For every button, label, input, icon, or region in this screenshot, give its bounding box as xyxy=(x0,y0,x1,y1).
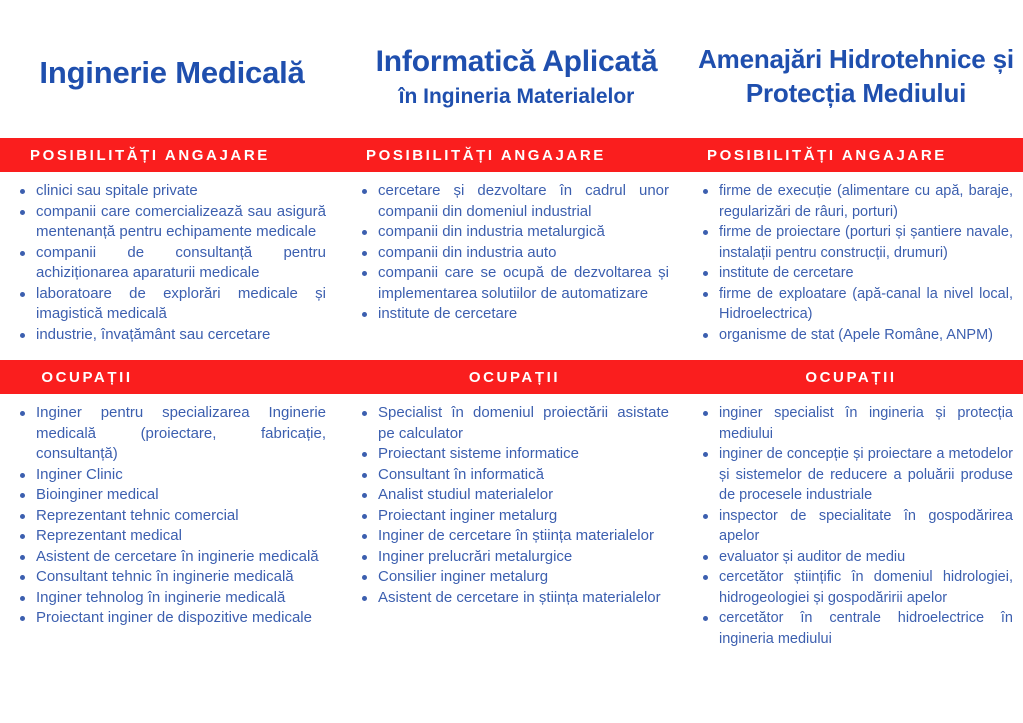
list-item: organisme de stat (Apele Române, ANPM) xyxy=(697,325,1013,346)
list-item: Inginer prelucrări metalurgice xyxy=(356,547,669,568)
program-title-sub: în Ingineria Materialelor xyxy=(399,83,635,110)
list-item: Inginer de cercetare în știința material… xyxy=(356,526,669,547)
list-item: inspector de specialitate în gospodărire… xyxy=(697,506,1013,547)
list-item: cercetare și dezvoltare în cadrul unor c… xyxy=(356,181,669,222)
list-item: Inginer tehnolog în inginerie medicală xyxy=(14,588,326,609)
list-item: Inginer Clinic xyxy=(14,465,326,486)
list-item: inginer de concepție și proiectare a met… xyxy=(697,444,1013,506)
occupations-columns: Inginer pentru specializarea Inginerie m… xyxy=(0,394,1023,649)
list-item: cercetător în centrale hidroelectrice în… xyxy=(697,608,1013,649)
list-item: institute de cercetare xyxy=(697,263,1013,284)
list-item: inginer specialist în ingineria și prote… xyxy=(697,403,1013,444)
list-item: companii din industria auto xyxy=(356,243,669,264)
list-item: firme de exploatare (apă-canal la nivel … xyxy=(697,284,1013,325)
band-label-employment-col2: POSIBILITĂȚI ANGAJARE xyxy=(344,147,689,164)
occupations-list-col3: inginer specialist în ingineria și prote… xyxy=(689,394,1023,649)
list-item: companii de consultanță pentru achizițio… xyxy=(14,243,326,284)
list-item: Bioinginer medical xyxy=(14,485,326,506)
list-item: Asistent de cercetare in știința materia… xyxy=(356,588,669,609)
poster-root: Inginerie Medicală Informatică Aplicată … xyxy=(0,0,1023,723)
list-item: cercetător științific în domeniul hidrol… xyxy=(697,567,1013,608)
employment-columns: clinici sau spitale private companii car… xyxy=(0,172,1023,360)
program-title-informatica-aplicata: Informatică Aplicată în Ingineria Materi… xyxy=(344,0,689,138)
program-title-main: Amenajări Hidrotehnice și Protecția Medi… xyxy=(695,43,1017,110)
list-item: Consultant tehnic în inginerie medicală xyxy=(14,567,326,588)
program-title-main: Inginerie Medicală xyxy=(39,56,304,91)
bullet-list: firme de execuție (alimentare cu apă, ba… xyxy=(697,181,1013,345)
program-title-inginerie-medicala: Inginerie Medicală xyxy=(0,0,344,138)
occupations-list-col1: Inginer pentru specializarea Inginerie m… xyxy=(0,394,344,649)
section-band-employment: POSIBILITĂȚI ANGAJARE POSIBILITĂȚI ANGAJ… xyxy=(0,138,1023,172)
list-item: firme de execuție (alimentare cu apă, ba… xyxy=(697,181,1013,222)
employment-list-col1: clinici sau spitale private companii car… xyxy=(0,172,344,360)
band-label-occupations-col2: OCUPAȚII xyxy=(344,369,689,386)
list-item: firme de proiectare (porturi și șantiere… xyxy=(697,222,1013,263)
list-item: Consilier inginer metalurg xyxy=(356,567,669,588)
list-item: Proiectant inginer de dispozitive medica… xyxy=(14,608,326,629)
band-label-employment-col3: POSIBILITĂȚI ANGAJARE xyxy=(689,147,1023,164)
band-label-occupations-col1: OCUPAȚII xyxy=(0,369,344,386)
bullet-list: inginer specialist în ingineria și prote… xyxy=(697,403,1013,649)
list-item: Asistent de cercetare în inginerie medic… xyxy=(14,547,326,568)
list-item: evaluator și auditor de mediu xyxy=(697,547,1013,568)
bullet-list: Specialist în domeniul proiectării asist… xyxy=(356,403,669,608)
list-item: companii care se ocupă de dezvoltarea și… xyxy=(356,263,669,304)
list-item: companii care comercializează sau asigur… xyxy=(14,202,326,243)
employment-list-col2: cercetare și dezvoltare în cadrul unor c… xyxy=(344,172,689,360)
band-label-employment-col1: POSIBILITĂȚI ANGAJARE xyxy=(0,147,344,164)
program-titles-row: Inginerie Medicală Informatică Aplicată … xyxy=(0,0,1023,138)
employment-list-col3: firme de execuție (alimentare cu apă, ba… xyxy=(689,172,1023,360)
bullet-list: cercetare și dezvoltare în cadrul unor c… xyxy=(356,181,669,325)
band-label-occupations-col3: OCUPAȚII xyxy=(689,369,1023,386)
list-item: Inginer pentru specializarea Inginerie m… xyxy=(14,403,326,465)
list-item: industrie, învațământ sau cercetare xyxy=(14,325,326,346)
occupations-list-col2: Specialist în domeniul proiectării asist… xyxy=(344,394,689,649)
list-item: Reprezentant tehnic comercial xyxy=(14,506,326,527)
list-item: Analist studiul materialelor xyxy=(356,485,669,506)
bullet-list: Inginer pentru specializarea Inginerie m… xyxy=(14,403,326,629)
list-item: Specialist în domeniul proiectării asist… xyxy=(356,403,669,444)
list-item: Reprezentant medical xyxy=(14,526,326,547)
program-title-amenajari-hidrotehnice: Amenajări Hidrotehnice și Protecția Medi… xyxy=(689,0,1023,138)
section-band-occupations: OCUPAȚII OCUPAȚII OCUPAȚII xyxy=(0,360,1023,394)
list-item: Consultant în informatică xyxy=(356,465,669,486)
list-item: Proiectant inginer metalurg xyxy=(356,506,669,527)
list-item: laboratoare de explorări medicale și ima… xyxy=(14,284,326,325)
list-item: institute de cercetare xyxy=(356,304,669,325)
bullet-list: clinici sau spitale private companii car… xyxy=(14,181,326,345)
list-item: clinici sau spitale private xyxy=(14,181,326,202)
list-item: companii din industria metalurgică xyxy=(356,222,669,243)
list-item: Proiectant sisteme informatice xyxy=(356,444,669,465)
program-title-main: Informatică Aplicată xyxy=(376,45,658,79)
